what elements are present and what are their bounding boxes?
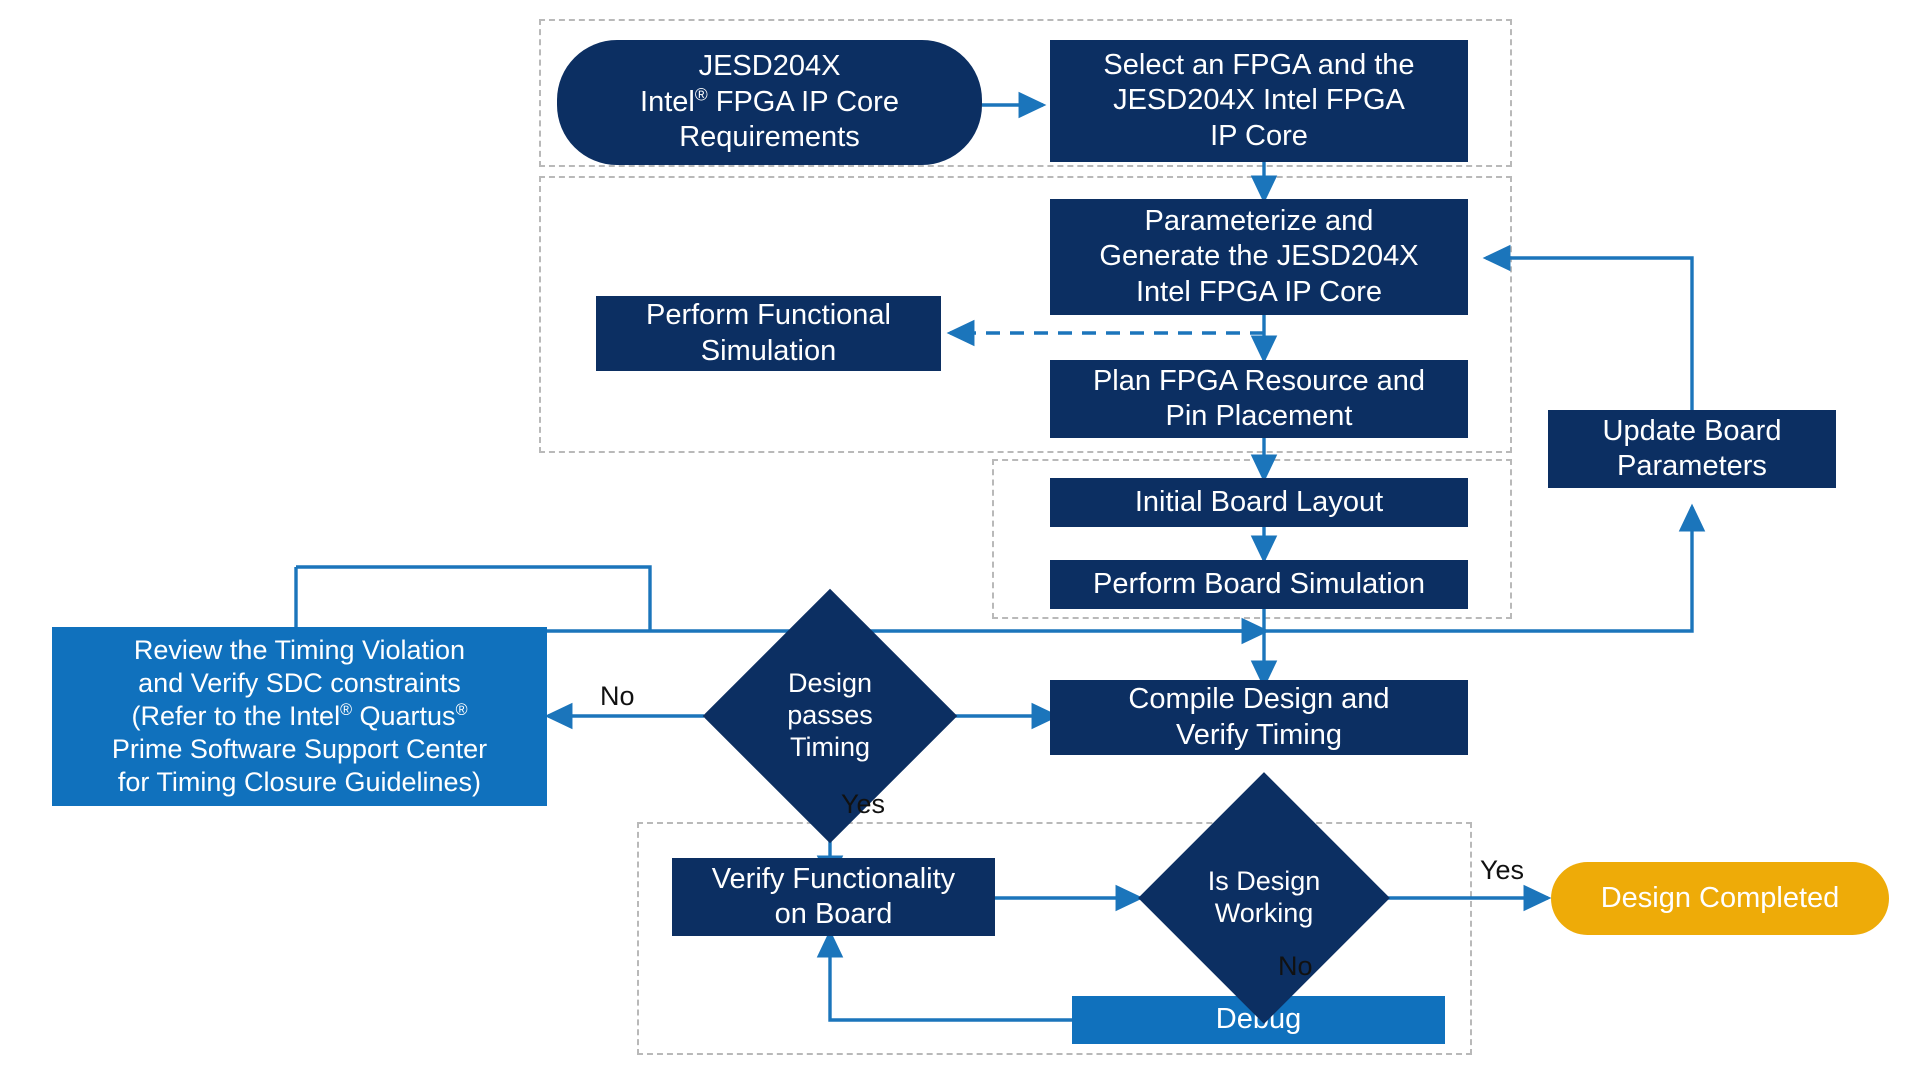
decision-design-passes-timing-label: Design passes Timing [740,626,920,806]
node-design-completed[interactable]: Design Completed [1551,862,1889,935]
node-verify-functionality-on-board[interactable]: Verify Functionality on Board [672,858,995,936]
flowchart-canvas: JESD204X Intel® FPGA IP Core Requirement… [0,0,1920,1080]
node-select-fpga[interactable]: Select an FPGA and the JESD204X Intel FP… [1050,40,1468,162]
decision-is-design-working[interactable]: Is Design Working [1175,809,1353,987]
node-plan-fpga-resource[interactable]: Plan FPGA Resource and Pin Placement [1050,360,1468,438]
node-review-timing-violation-label: Review the Timing Violation and Verify S… [112,634,487,799]
edge-label-working-no: No [1278,951,1313,982]
edge-rail-to-update-board [296,507,1692,631]
node-parameterize[interactable]: Parameterize and Generate the JESD204X I… [1050,199,1468,315]
node-parameterize-label: Parameterize and Generate the JESD204X I… [1099,204,1418,310]
node-verify-functionality-on-board-label: Verify Functionality on Board [712,862,955,933]
node-review-timing-violation[interactable]: Review the Timing Violation and Verify S… [52,627,547,806]
edge-debug-to-verify [830,933,1072,1020]
edge-label-timing-yes: Yes [841,789,885,820]
node-functional-simulation[interactable]: Perform Functional Simulation [596,296,941,371]
node-functional-simulation-label: Perform Functional Simulation [646,298,891,369]
edge-label-timing-no: No [600,681,635,712]
node-compile-design[interactable]: Compile Design and Verify Timing [1050,680,1468,755]
decision-is-design-working-label: Is Design Working [1175,809,1353,987]
node-initial-board-layout[interactable]: Initial Board Layout [1050,478,1468,527]
node-perform-board-simulation-label: Perform Board Simulation [1093,567,1425,602]
edge-label-working-yes: Yes [1480,855,1524,886]
node-design-completed-label: Design Completed [1601,881,1840,916]
node-update-board-parameters[interactable]: Update Board Parameters [1548,410,1836,488]
edge-review-to-rail [296,567,650,631]
node-update-board-parameters-label: Update Board Parameters [1603,414,1782,485]
node-perform-board-simulation[interactable]: Perform Board Simulation [1050,560,1468,609]
node-requirements-label: JESD204X Intel® FPGA IP Core Requirement… [640,49,899,155]
node-select-fpga-label: Select an FPGA and the JESD204X Intel FP… [1103,48,1414,154]
node-plan-fpga-resource-label: Plan FPGA Resource and Pin Placement [1093,364,1425,435]
node-requirements[interactable]: JESD204X Intel® FPGA IP Core Requirement… [557,40,982,165]
decision-design-passes-timing[interactable]: Design passes Timing [740,626,920,806]
node-compile-design-label: Compile Design and Verify Timing [1128,682,1389,753]
node-initial-board-layout-label: Initial Board Layout [1135,485,1383,520]
